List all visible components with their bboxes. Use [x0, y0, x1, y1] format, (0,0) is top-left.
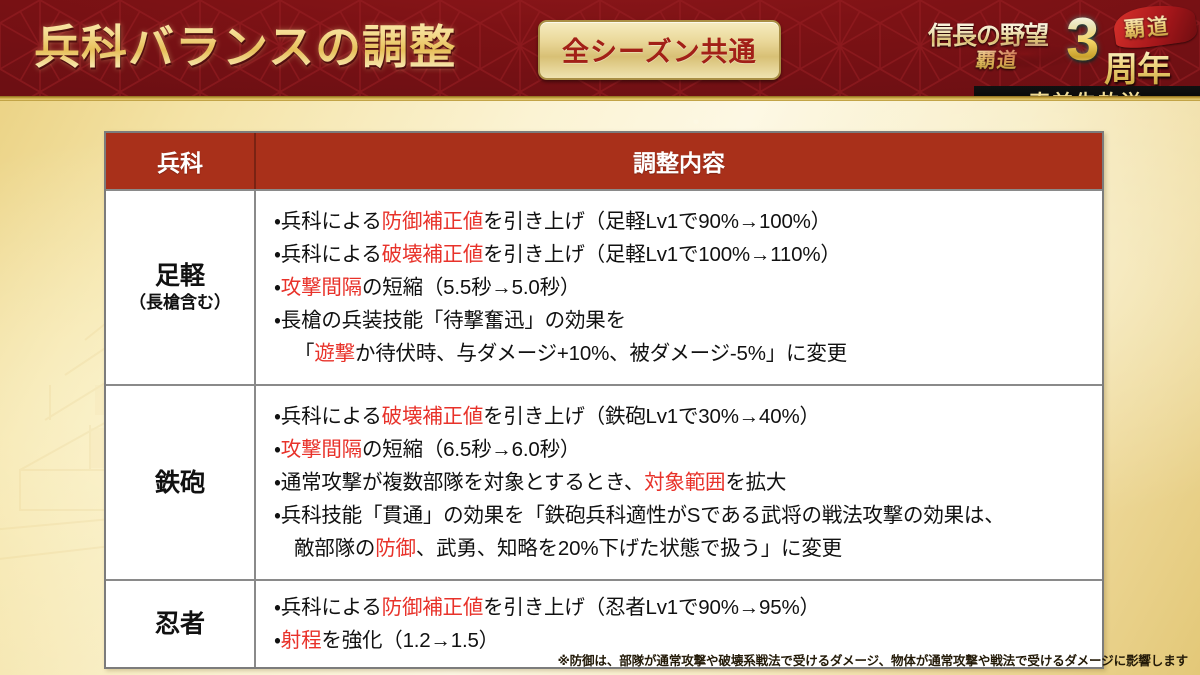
logo-game-subtitle: 覇道 [974, 44, 1019, 73]
line-text: ・ [274, 629, 281, 652]
table-header-row: 兵科 調整内容 [106, 133, 1102, 191]
season-badge: 全シーズン共通 [538, 20, 781, 80]
adjustment-line: 敵部隊の防御、武勇、知略を20%下げた状態で扱う」に変更 [274, 532, 1092, 565]
troop-kind-note: （長槍含む） [129, 291, 231, 315]
line-text: ・兵科技能「貫通」の効果を「鉄砲兵科適性がSである武将の戦法攻撃の効果は、 [274, 504, 1005, 527]
troop-kind-name: 忍者 [155, 609, 205, 639]
line-text: を拡大 [725, 471, 786, 494]
column-header-kind: 兵科 [106, 133, 256, 189]
line-text: 、武勇、知略を20%下げた状態で扱う」に変更 [416, 537, 842, 560]
adjustment-line: 「遊撃か待伏時、与ダメージ+10%、被ダメージ-5%」に変更 [274, 337, 1092, 370]
cell-adjustment-content: ・兵科による防御補正値を引き上げ（足軽Lv1で90%→100%）・兵科による破壊… [256, 191, 1102, 384]
line-text: ・兵科による [274, 405, 382, 428]
table-body: 足軽（長槍含む）・兵科による防御補正値を引き上げ（足軽Lv1で90%→100%）… [106, 191, 1102, 667]
line-text: の短縮（5.5秒→5.0秒） [362, 276, 580, 299]
adjustments-table: 兵科 調整内容 足軽（長槍含む）・兵科による防御補正値を引き上げ（足軽Lv1で9… [104, 131, 1104, 669]
line-text: ・ [274, 276, 281, 299]
highlighted-term: 防御補正値 [382, 596, 484, 619]
line-text: を引き上げ（足軽Lv1で100%→110%） [483, 243, 841, 266]
adjustment-line-list: ・兵科による破壊補正値を引き上げ（鉄砲Lv1で30%→40%）・攻撃間隔の短縮（… [256, 386, 1102, 579]
line-text: ・長槍の兵装技能「待撃奮迅」の効果を [274, 309, 626, 332]
adjustment-line: ・兵科による防御補正値を引き上げ（忍者Lv1で90%→95%） [274, 591, 1092, 624]
game-logo: 信長の野望 覇道 覇道 3 周年 [918, 4, 1194, 96]
adjustment-line: ・兵科による破壊補正値を引き上げ（鉄砲Lv1で30%→40%） [274, 400, 1092, 433]
adjustment-line: ・長槍の兵装技能「待撃奮迅」の効果を [274, 304, 1092, 337]
cell-troop-kind: 足軽（長槍含む） [106, 191, 256, 384]
highlighted-term: 防御補正値 [382, 210, 484, 233]
highlighted-term: 攻撃間隔 [281, 438, 362, 461]
cell-troop-kind: 忍者 [106, 581, 256, 667]
line-text: ・通常攻撃が複数部隊を対象とするとき、 [274, 471, 644, 494]
line-text: ・ [274, 438, 281, 461]
table-row: 足軽（長槍含む）・兵科による防御補正値を引き上げ（足軽Lv1で90%→100%）… [106, 191, 1102, 386]
top-banner: 兵科バランスの調整 全シーズン共通 信長の野望 覇道 覇道 3 周年 直前生放送 [0, 0, 1200, 96]
logo-anniversary-number: 3 [1066, 10, 1099, 70]
column-header-content: 調整内容 [256, 133, 1102, 189]
live-broadcast-label: 直前生放送 [1030, 86, 1145, 97]
adjustment-line-list: ・兵科による防御補正値を引き上げ（足軽Lv1で90%→100%）・兵科による破壊… [256, 191, 1102, 384]
highlighted-term: 攻撃間隔 [281, 276, 362, 299]
adjustment-line: ・兵科による破壊補正値を引き上げ（足軽Lv1で100%→110%） [274, 238, 1092, 271]
line-text: を引き上げ（足軽Lv1で90%→100%） [483, 210, 831, 233]
live-broadcast-banner: 直前生放送 [974, 86, 1200, 96]
footnote: ※防御は、部隊が通常攻撃や破壊系戦法で受けるダメージ、物体が通常攻撃や戦法で受け… [558, 650, 1188, 669]
highlighted-term: 射程 [281, 629, 322, 652]
troop-kind-name: 鉄砲 [155, 468, 205, 498]
cell-adjustment-content: ・兵科による破壊補正値を引き上げ（鉄砲Lv1で30%→40%）・攻撃間隔の短縮（… [256, 386, 1102, 579]
highlighted-term: 破壊補正値 [382, 405, 484, 428]
adjustment-line: ・通常攻撃が複数部隊を対象とするとき、対象範囲を拡大 [274, 466, 1092, 499]
highlighted-term: 防御 [375, 537, 416, 560]
adjustment-line: ・兵科による防御補正値を引き上げ（足軽Lv1で90%→100%） [274, 205, 1092, 238]
adjustment-line: ・攻撃間隔の短縮（5.5秒→5.0秒） [274, 271, 1092, 304]
adjustment-line: ・兵科技能「貫通」の効果を「鉄砲兵科適性がSである武将の戦法攻撃の効果は、 [274, 499, 1092, 532]
line-text: を引き上げ（忍者Lv1で90%→95%） [483, 596, 820, 619]
highlighted-term: 遊撃 [314, 342, 355, 365]
table-row: 鉄砲・兵科による破壊補正値を引き上げ（鉄砲Lv1で30%→40%）・攻撃間隔の短… [106, 386, 1102, 581]
line-text: 「 [294, 342, 314, 365]
highlighted-term: 破壊補正値 [382, 243, 484, 266]
banner-gold-divider [0, 96, 1200, 101]
logo-flame-label: 覇道 [1123, 10, 1171, 44]
line-text: の短縮（6.5秒→6.0秒） [362, 438, 580, 461]
highlighted-term: 対象範囲 [644, 471, 725, 494]
line-text: ・兵科による [274, 596, 382, 619]
adjustment-line: ・攻撃間隔の短縮（6.5秒→6.0秒） [274, 433, 1092, 466]
line-text: を強化（1.2→1.5） [321, 629, 499, 652]
line-text: か待伏時、与ダメージ+10%、被ダメージ-5%」に変更 [355, 342, 847, 365]
line-text: ・兵科による [274, 243, 382, 266]
line-text: ・兵科による [274, 210, 382, 233]
cell-troop-kind: 鉄砲 [106, 386, 256, 579]
page-title: 兵科バランスの調整 [34, 8, 456, 86]
line-text: を引き上げ（鉄砲Lv1で30%→40%） [483, 405, 820, 428]
line-text: 敵部隊の [294, 537, 375, 560]
logo-anniversary-unit: 周年 [1104, 42, 1170, 91]
troop-kind-name: 足軽 [155, 261, 205, 291]
